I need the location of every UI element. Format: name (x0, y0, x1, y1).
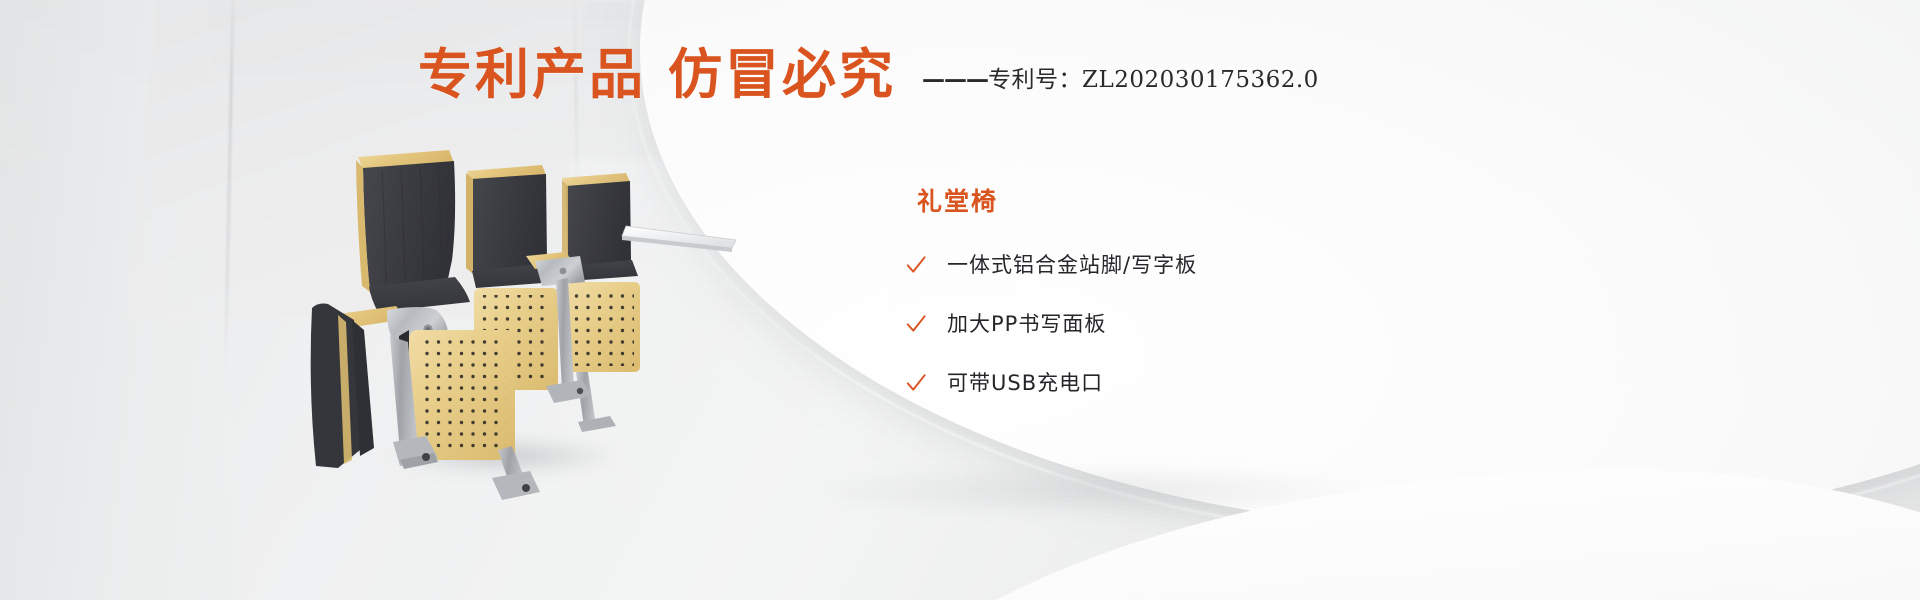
patent-dash-prefix: ——— (922, 67, 988, 93)
feature-item-label: 加大PP书写面板 (947, 314, 1106, 335)
feature-item-3: 可带USB充电口 (905, 372, 1197, 394)
patent-number-label: 专利号： (988, 67, 1082, 93)
chair-2-pivot-bolt (560, 268, 567, 275)
chair-3-perforations (574, 288, 634, 366)
chair-row-illustration (330, 130, 770, 490)
patent-number-value: ZL202030175362.0 (1082, 67, 1319, 93)
chair-3-leg (576, 372, 596, 426)
feature-list: 一体式铝合金站脚/写字板 加大PP书写面板 可带USB充电口 (905, 254, 1197, 394)
feature-item-1: 一体式铝合金站脚/写字板 (905, 254, 1197, 276)
chair-1-perforations (418, 340, 506, 452)
headline-text: 专利产品仿冒必究 (418, 48, 896, 102)
chair-2-foot-bolt (577, 388, 583, 394)
feature-item-2: 加大PP书写面板 (905, 313, 1197, 335)
check-icon (905, 254, 927, 276)
headline-part-2: 仿冒必究 (668, 43, 896, 106)
feature-item-label: 一体式铝合金站脚/写字板 (947, 255, 1197, 276)
check-icon (905, 372, 927, 394)
feature-block-title: 礼堂椅 (917, 182, 1197, 218)
chair-1-foot-bolt-right (522, 484, 530, 492)
chair-1-foot-bolt-left (422, 453, 430, 461)
check-icon (905, 313, 927, 335)
headline-part-1: 专利产品 (418, 43, 646, 106)
product-image-auditorium-chairs (330, 130, 770, 490)
feature-item-label: 可带USB充电口 (947, 373, 1103, 394)
patent-number-line: ———专利号：ZL202030175362.0 (922, 60, 1319, 94)
chair-2-back-edge (466, 173, 473, 274)
writing-tablet (622, 226, 736, 252)
headline-block: 专利产品仿冒必究 ———专利号：ZL202030175362.0 (418, 48, 1319, 102)
product-banner: 专利产品仿冒必究 ———专利号：ZL202030175362.0 礼堂椅 一体式… (0, 0, 1920, 600)
chair-1-foot-right (492, 471, 540, 500)
feature-list-block: 礼堂椅 一体式铝合金站脚/写字板 加大PP书写面板 可带USB充电口 (905, 182, 1197, 394)
